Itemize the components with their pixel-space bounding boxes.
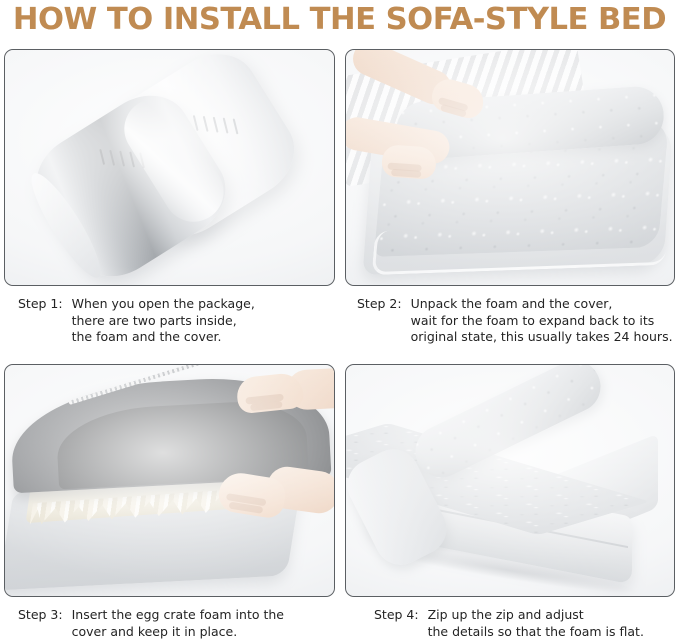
step-3-photo [4, 364, 335, 597]
insert-foam-illustration [5, 365, 334, 596]
step-3-caption: Step 3: Insert the egg crate foam into t… [4, 607, 335, 640]
step-cell-4: Step 4: Zip up the zip and adjust the de… [345, 364, 675, 642]
page-title: HOW TO INSTALL THE SOFA-STYLE BED [0, 2, 679, 37]
step-1-line-2: there are two parts inside, [72, 313, 335, 330]
hand-pulling-zipper [235, 372, 304, 415]
finished-bed-illustration [346, 365, 674, 596]
step-4-text: Zip up the zip and adjust the details so… [428, 607, 675, 640]
step-4-line-1: Zip up the zip and adjust [428, 607, 675, 624]
step-3-line-1: Insert the egg crate foam into the [72, 607, 335, 624]
step-4-photo [345, 364, 675, 597]
step-cell-2: Step 2: Unpack the foam and the cover, w… [345, 49, 675, 345]
step-3-text: Insert the egg crate foam into the cover… [72, 607, 335, 640]
step-3-label: Step 3: [18, 607, 72, 624]
step-2-line-2: wait for the foam to expand back to its [411, 313, 675, 330]
step-1-label: Step 1: [18, 296, 72, 313]
step-2-photo [345, 49, 675, 286]
step-1-photo [4, 49, 335, 286]
step-1-line-1: When you open the package, [72, 296, 335, 313]
step-2-caption: Step 2: Unpack the foam and the cover, w… [345, 296, 675, 346]
step-2-line-3: original state, this usually takes 24 ho… [411, 329, 675, 346]
unpacking-illustration [346, 50, 674, 285]
step-4-line-2: the details so that the foam is flat. [428, 624, 675, 641]
step-1-line-3: the foam and the cover. [72, 329, 335, 346]
hand-lower [381, 144, 437, 180]
step-4-caption: Step 4: Zip up the zip and adjust the de… [345, 607, 675, 640]
step-cell-3: Step 3: Insert the egg crate foam into t… [4, 364, 335, 642]
cover-piping [372, 221, 669, 275]
step-1-text: When you open the package, there are two… [72, 296, 335, 346]
packages-illustration [5, 50, 334, 285]
step-2-text: Unpack the foam and the cover, wait for … [411, 296, 675, 346]
instruction-page: HOW TO INSTALL THE SOFA-STYLE BED [0, 0, 679, 644]
step-2-label: Step 2: [357, 296, 411, 313]
step-cell-1: Step 1: When you open the package, there… [4, 49, 335, 345]
step-1-caption: Step 1: When you open the package, there… [4, 296, 335, 346]
step-3-line-2: cover and keep it in place. [72, 624, 335, 641]
step-4-label: Step 4: [374, 607, 428, 624]
step-2-line-1: Unpack the foam and the cover, [411, 296, 675, 313]
